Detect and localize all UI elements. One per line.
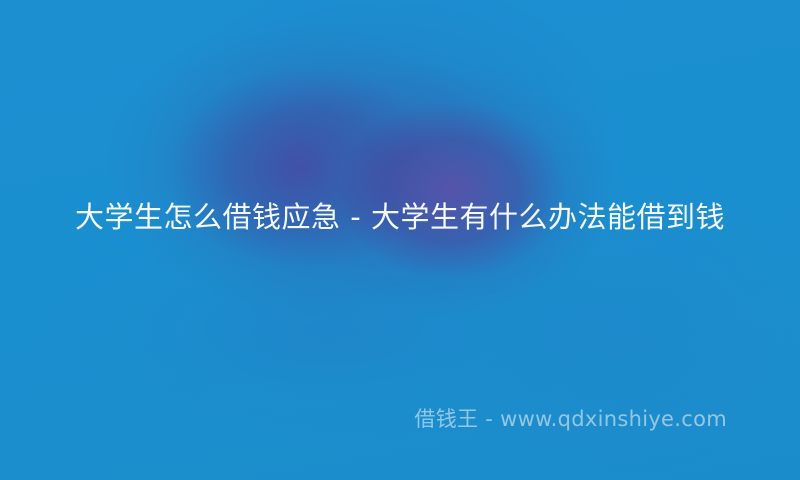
page-title: 大学生怎么借钱应急 - 大学生有什么办法能借到钱 (58, 194, 742, 240)
cover-card: 大学生怎么借钱应急 - 大学生有什么办法能借到钱 借钱王 - www.qdxin… (0, 0, 800, 480)
site-watermark: 借钱王 - www.qdxinshiye.com (414, 406, 727, 432)
title-block: 大学生怎么借钱应急 - 大学生有什么办法能借到钱 (0, 194, 800, 240)
